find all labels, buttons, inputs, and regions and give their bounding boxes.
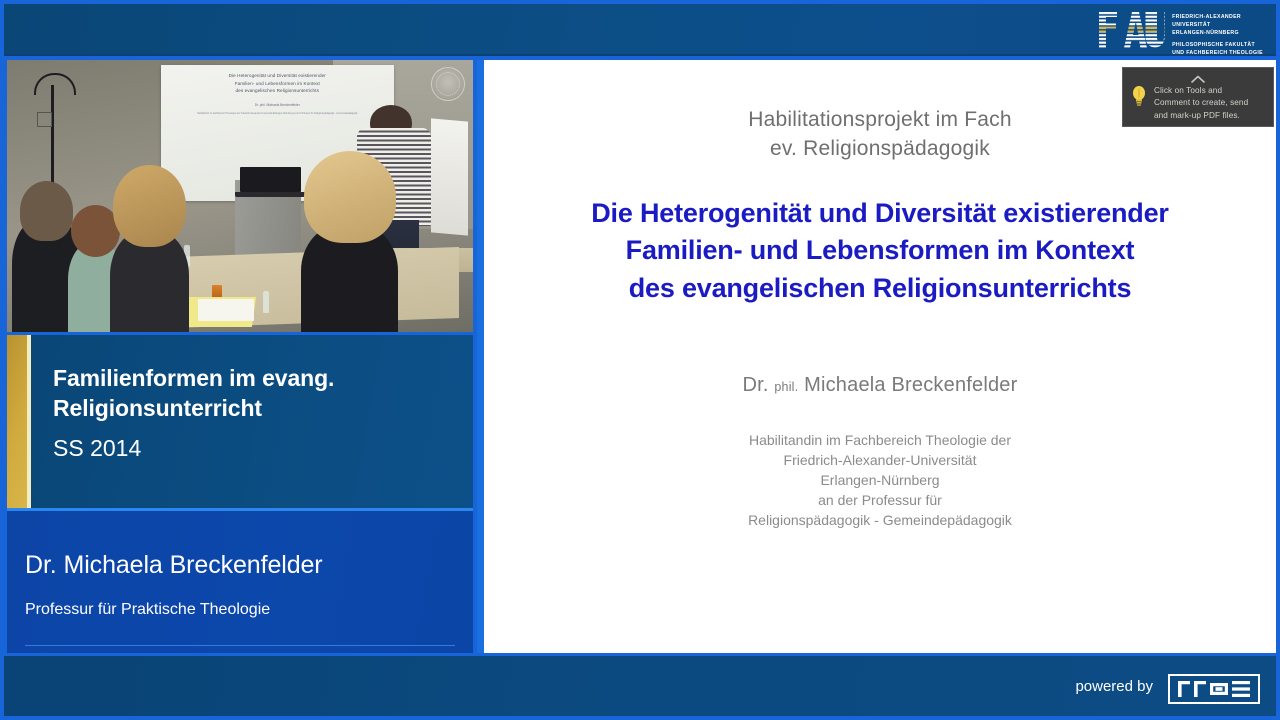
projected-affiliation: Habilitandin im Fachbereich Theologie de… [161,113,394,117]
pdf-tools-tooltip[interactable]: Click on Tools and Comment to create, se… [1122,67,1274,127]
slide-author: Dr. phil. Michaela Breckenfelder [484,374,1276,397]
course-title-line1: Familienformen im evang. [53,363,455,393]
projected-title-line2: Familien- und Lebensformen im Kontext [166,80,389,87]
powered-by-label: powered by [1075,678,1153,695]
audience-member-3 [110,229,189,332]
course-term: SS 2014 [53,434,455,464]
slide-author-prefix: Dr. [742,374,774,396]
slide-affiliation-line2: Friedrich-Alexander-Universität [484,450,1276,470]
course-title: Familienformen im evang. Religionsunterr… [53,363,455,424]
fau-line3: ERLANGEN-NÜRNBERG [1172,30,1263,38]
slide-affiliation-line4: an der Professur für [484,490,1276,510]
audience-member-4 [301,223,399,332]
slide-panel-frame: Habilitationsprojekt im Fach ev. Religio… [477,60,1276,653]
header-rule [4,54,1276,56]
tooltip-line3: and mark-up PDF files. [1154,110,1248,122]
lecturer-role: Professur für Praktische Theologie [25,601,270,619]
whiteboard [431,118,468,235]
slide-author-name: Michaela Breckenfelder [798,374,1017,396]
fau-line5: UND FACHBEREICH THEOLOGIE [1172,50,1263,56]
tooltip-line1: Click on Tools and [1154,85,1248,97]
slide-affiliation: Habilitandin im Fachbereich Theologie de… [484,430,1276,530]
slide-author-degree: phil. [774,380,798,394]
lecturer-panel-rule [25,645,455,646]
page-header: FRIEDRICH-ALEXANDER UNIVERSITÄT ERLANGEN… [4,4,1276,56]
slide-title: Die Heterogenität und Diversität existie… [484,195,1276,307]
player-page: FRIEDRICH-ALEXANDER UNIVERSITÄT ERLANGEN… [0,0,1280,720]
course-title-line2: Religionsunterricht [53,393,455,423]
tooltip-text: Click on Tools and Comment to create, se… [1154,85,1248,122]
fau-line1: FRIEDRICH-ALEXANDER [1172,14,1263,22]
projected-title-line1: Die Heterogenität und Diversität existie… [166,72,389,79]
wall-frame [37,112,52,127]
university-seal-icon [431,67,465,101]
rrze-logo[interactable] [1168,674,1260,704]
page-footer: powered by [4,656,1276,716]
course-info-panel: Familienformen im evang. Religionsunterr… [7,335,473,508]
gold-accent-bar [7,335,27,508]
fau-logo[interactable]: FRIEDRICH-ALEXANDER UNIVERSITÄT ERLANGEN… [1099,12,1263,56]
fau-line4: PHILOSOPHISCHE FAKULTÄT [1172,42,1263,50]
slide-pretitle-line1: Habilitationsprojekt im Fach [748,108,1012,131]
slide-affiliation-line1: Habilitandin im Fachbereich Theologie de… [484,430,1276,450]
projected-author: Dr. phil. Michaela Breckenfelder [161,103,394,108]
projected-title-line3: des evangelischen Religionsunterrichts [166,87,389,94]
rrze-logo-icon [1176,679,1252,699]
video-thumbnail[interactable]: Die Heterogenität und Diversität existie… [7,60,473,332]
slide-panel[interactable]: Habilitationsprojekt im Fach ev. Religio… [484,60,1276,653]
slide-affiliation-line3: Erlangen-Nürnberg [484,470,1276,490]
tooltip-line2: Comment to create, send [1154,97,1248,109]
slide-title-line3: des evangelischen Religionsunterrichts [484,270,1276,307]
slide-title-line1: Die Heterogenität und Diversität existie… [484,195,1276,232]
fau-wordmark-icon [1099,12,1165,48]
lecturer-info-panel: Dr. Michaela Breckenfelder Professur für… [7,511,473,653]
slide-pretitle-line2: ev. Religionspädagogik [484,135,1276,164]
fau-logo-text: FRIEDRICH-ALEXANDER UNIVERSITÄT ERLANGEN… [1172,12,1263,56]
slide-affiliation-line5: Religionspädagogik - Gemeindepädagogik [484,510,1276,530]
paper-sheet [198,299,254,321]
water-bottle-2 [263,291,269,313]
laptop [240,167,301,191]
lightbulb-icon [1131,85,1147,107]
fau-line2: UNIVERSITÄT [1172,22,1263,30]
lecturer-name: Dr. Michaela Breckenfelder [25,551,323,580]
slide-title-line2: Familien- und Lebensformen im Kontext [484,232,1276,269]
